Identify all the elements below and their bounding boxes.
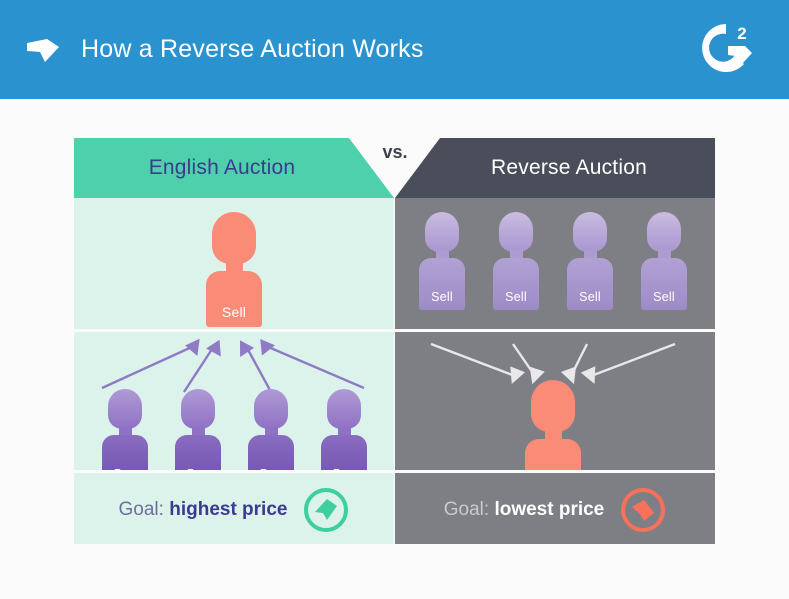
figure-head [108, 389, 142, 429]
arrow-line-4 [591, 344, 675, 376]
column-header-reverse-auction: Reverse Auction [395, 138, 715, 198]
figure-body: Sell [419, 258, 465, 310]
figure-seller-2: Sell [493, 212, 539, 310]
right-rows: Sell Sell Sell [395, 198, 715, 544]
column-header-english-auction: English Auction [74, 138, 394, 198]
figure-label: Sell [493, 290, 539, 304]
figure-head [254, 389, 288, 429]
left-row-goal: Goal: highest price [74, 470, 394, 544]
goal-value: lowest price [494, 499, 604, 520]
arrow-line-1 [431, 344, 515, 376]
arrow-head-4 [583, 368, 599, 384]
figure-label: Sell [567, 290, 613, 304]
figure-seller-3: Sell [567, 212, 613, 310]
arrow-line-3 [246, 346, 271, 392]
figure-head [647, 212, 681, 252]
vs-label: vs. [367, 142, 423, 168]
column-title: Reverse Auction [491, 156, 647, 180]
arrow-head-1 [507, 368, 523, 384]
svg-text:2: 2 [737, 24, 746, 43]
goal-text: Goal: lowest price [444, 499, 605, 521]
figure-seller-1: Sell [419, 212, 465, 310]
right-row-sellers: Sell Sell Sell [395, 198, 715, 329]
arrow-head-3 [236, 342, 252, 357]
arrow-head-1 [187, 341, 203, 356]
up-arrow-badge-icon [303, 487, 349, 533]
goal-value: highest price [169, 499, 287, 520]
column-english-auction: English Auction Sell [74, 138, 394, 544]
figure-head [531, 380, 575, 432]
arrow-head-4 [257, 341, 272, 356]
figure-head [425, 212, 459, 252]
pin-arrow-icon [23, 30, 63, 70]
arrow-line-2 [184, 346, 214, 392]
figure-body: Sell [641, 258, 687, 310]
figure-head [212, 212, 256, 264]
goal-lead: Goal: [444, 499, 489, 520]
header-banner: How a Reverse Auction Works 2 [0, 0, 789, 99]
figure-label: Sell [419, 290, 465, 304]
arrow-line-4 [266, 346, 364, 388]
goal-english-auction: Goal: highest price [74, 473, 394, 547]
g2-logo: 2 [695, 20, 757, 80]
left-rows: Sell [74, 198, 394, 544]
comparison-board: English Auction Sell [74, 138, 715, 544]
arrow-head-2 [208, 342, 224, 358]
column-reverse-auction: Reverse Auction Sell [395, 138, 715, 544]
goal-reverse-auction: Goal: lowest price [395, 473, 715, 547]
page-title: How a Reverse Auction Works [81, 35, 424, 64]
figure-body: Sell [206, 271, 262, 327]
column-title: English Auction [149, 156, 296, 180]
arrow-line-1 [102, 346, 194, 388]
figure-body: Sell [493, 258, 539, 310]
figure-seller: Sell [206, 212, 262, 327]
figure-head [573, 212, 607, 252]
right-row-buyer: Buy [395, 329, 715, 470]
figure-label: Sell [206, 304, 262, 320]
figure-seller-4: Sell [641, 212, 687, 310]
figure-label: Sell [641, 290, 687, 304]
figure-head [327, 389, 361, 429]
figure-head [499, 212, 533, 252]
left-row-seller: Sell [74, 198, 394, 329]
goal-lead: Goal: [119, 499, 164, 520]
infographic-page: How a Reverse Auction Works 2 English Au… [0, 0, 789, 599]
down-arrow-badge-icon [620, 487, 666, 533]
right-row-goal: Goal: lowest price [395, 470, 715, 544]
figure-head [181, 389, 215, 429]
goal-text: Goal: highest price [119, 499, 288, 521]
figure-body: Sell [567, 258, 613, 310]
left-row-buyers: Buy Buy Buy [74, 329, 394, 470]
